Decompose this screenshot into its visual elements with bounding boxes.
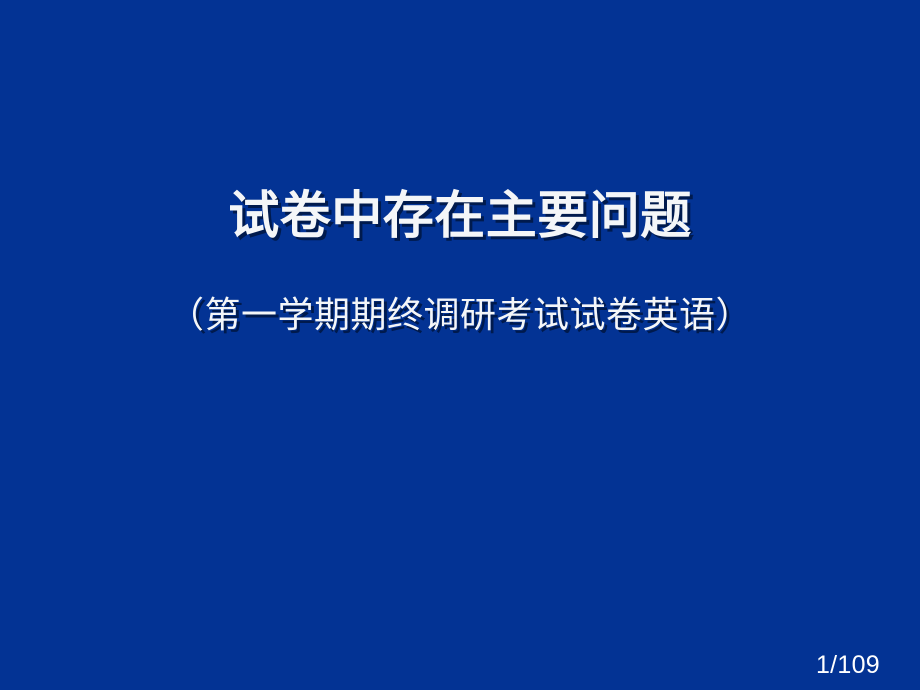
page-title: 试卷中存在主要问题 [0,186,920,248]
page-number-indicator: 1/109 [816,651,880,679]
slide-subtitle: （第一学期期终调研考试试卷英语） [0,248,920,338]
presentation-slide: 试卷中存在主要问题 （第一学期期终调研考试试卷英语） 1/109 [0,0,920,690]
slide-title-block: 试卷中存在主要问题 （第一学期期终调研考试试卷英语） [0,186,920,338]
